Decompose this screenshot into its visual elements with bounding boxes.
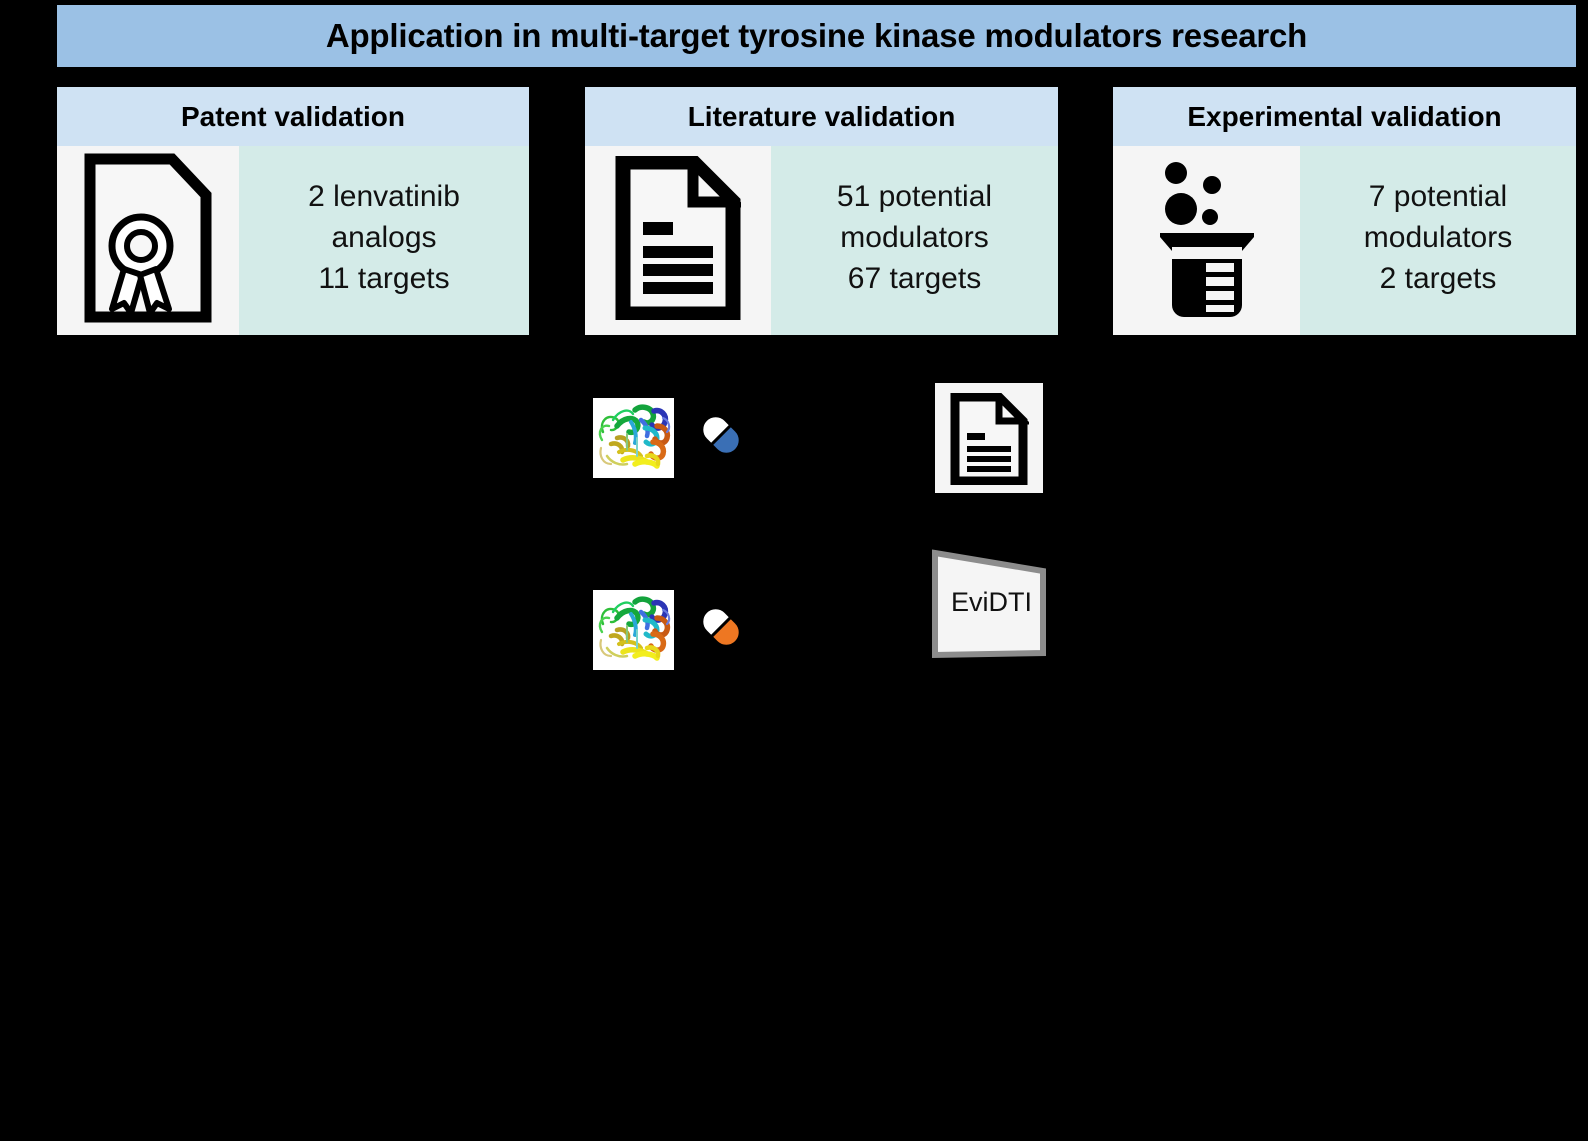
patent-certificate-icon — [84, 153, 212, 328]
panel-literature-line-3: 67 targets — [848, 259, 981, 300]
panel-experimental-line-3: 2 targets — [1380, 259, 1497, 300]
panel-experimental-line-1: 7 potential — [1369, 177, 1507, 218]
panel-experimental-header: Experimental validation — [1113, 87, 1576, 146]
protein-structure-tile — [593, 590, 674, 670]
panel-patent-body: 2 lenvatinib analogs 11 targets — [57, 146, 529, 335]
panel-literature-body: 51 potential modulators 67 targets — [585, 146, 1058, 335]
panel-experimental-title: Experimental validation — [1187, 101, 1501, 133]
page-title-banner: Application in multi-target tyrosine kin… — [57, 5, 1576, 67]
panel-patent-line-3: 11 targets — [318, 259, 449, 300]
panel-experimental-text-cell: 7 potential modulators 2 targets — [1300, 146, 1576, 335]
document-lines-icon — [615, 156, 741, 325]
panel-patent-icon-cell — [57, 146, 239, 335]
panel-patent-line-1: 2 lenvatinib — [308, 177, 460, 218]
panel-literature-header: Literature validation — [585, 87, 1058, 146]
capsule-pill-icon — [694, 408, 748, 462]
panel-experimental-line-2: modulators — [1364, 218, 1512, 259]
panel-patent-text-cell: 2 lenvatinib analogs 11 targets — [239, 146, 529, 335]
panel-experimental-icon-cell — [1113, 146, 1300, 335]
panel-literature-line-2: modulators — [840, 218, 988, 259]
panel-patent-validation: Patent validation 2 lenvatinib analogs 1… — [57, 87, 529, 335]
panel-literature-icon-cell — [585, 146, 771, 335]
capsule-pill-icon — [694, 600, 748, 654]
panel-patent-line-2: analogs — [331, 218, 436, 259]
panel-literature-validation: Literature validation 51 potential modul… — [585, 87, 1058, 335]
panel-experimental-body: 7 potential modulators 2 targets — [1113, 146, 1576, 335]
protein-structure-tile — [593, 398, 674, 478]
page-title: Application in multi-target tyrosine kin… — [326, 17, 1307, 55]
panel-patent-title: Patent validation — [181, 101, 405, 133]
evidence-document-tile — [935, 383, 1043, 493]
panel-literature-title: Literature validation — [688, 101, 956, 133]
protein-ribbon-icon — [593, 657, 674, 670]
beaker-bubbles-icon — [1146, 155, 1268, 326]
panel-literature-text-cell: 51 potential modulators 67 targets — [771, 146, 1058, 335]
panel-patent-header: Patent validation — [57, 87, 529, 146]
protein-ribbon-icon — [593, 465, 674, 478]
panel-experimental-validation: Experimental validation 7 poten — [1113, 87, 1576, 335]
panel-literature-line-1: 51 potential — [837, 177, 992, 218]
evidti-model-shape: EviDTI — [925, 543, 1048, 661]
document-lines-icon — [949, 393, 1029, 490]
